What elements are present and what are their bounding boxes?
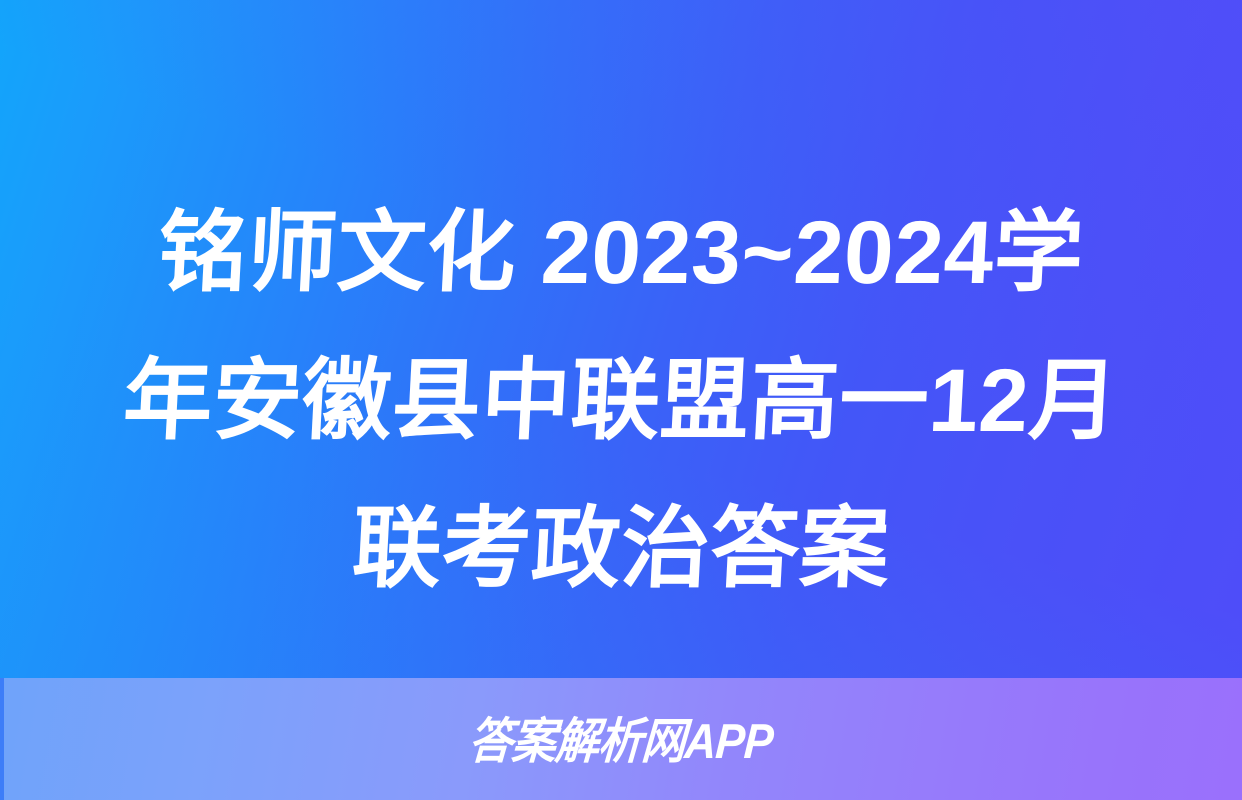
footer-watermark: 答案解析网APP bbox=[0, 678, 1242, 800]
page-title: 铭师文化 2023~2024学 年安徽县中联盟高一12月 联考政治答案 bbox=[0, 178, 1242, 622]
title-line-1: 铭师文化 2023~2024学 bbox=[58, 178, 1184, 326]
footer-watermark-label: 答案解析网APP bbox=[467, 712, 774, 767]
title-line-3: 联考政治答案 bbox=[58, 474, 1184, 622]
title-line-2: 年安徽县中联盟高一12月 bbox=[58, 326, 1184, 474]
footer-watermark-band: 答案解析网APP bbox=[0, 678, 1242, 800]
poster-canvas: 铭师文化 2023~2024学 年安徽县中联盟高一12月 联考政治答案 答案解析… bbox=[0, 0, 1242, 800]
